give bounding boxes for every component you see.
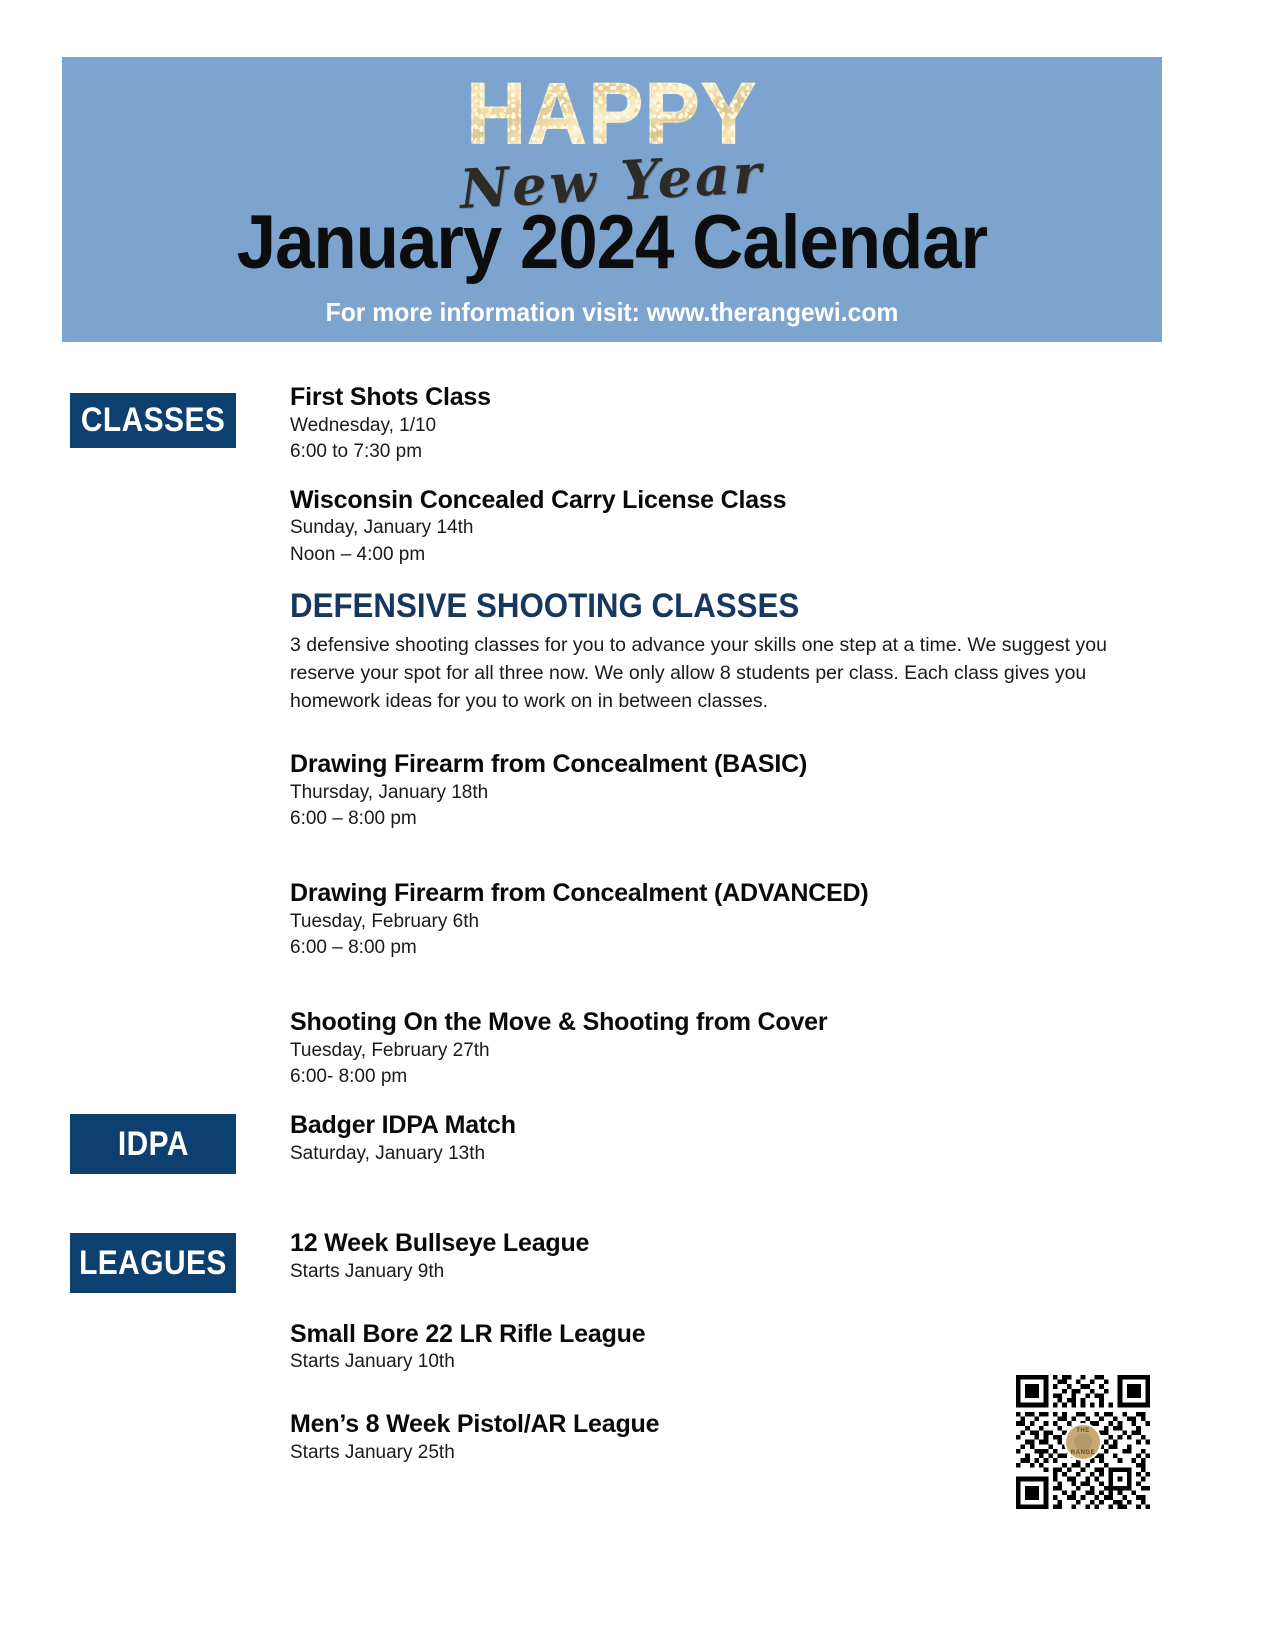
- entry-time: Noon – 4:00 pm: [290, 542, 1140, 568]
- entry-time: 6:00 – 8:00 pm: [290, 935, 1140, 961]
- entry-title: Badger IDPA Match: [290, 1110, 1090, 1141]
- entry-time: 6:00 to 7:30 pm: [290, 439, 1140, 465]
- class-entry: Drawing Firearm from Concealment (ADVANC…: [290, 878, 1140, 961]
- logo-bottom-label: RANGE: [1066, 1450, 1100, 1456]
- header-banner: HAPPY New Year January 2024 Calendar For…: [62, 57, 1162, 342]
- entry-date: Tuesday, February 6th: [290, 909, 1140, 935]
- defensive-shooting-subsection: DEFENSIVE SHOOTING CLASSES 3 defensive s…: [290, 588, 1140, 715]
- entry-time: 6:00- 8:00 pm: [290, 1064, 1140, 1090]
- qr-code[interactable]: THE RANGE: [1016, 1375, 1150, 1509]
- spacer: [290, 832, 1140, 878]
- entry-title: 12 Week Bullseye League: [290, 1228, 1090, 1259]
- calendar-flyer-page: HAPPY New Year January 2024 Calendar For…: [0, 0, 1275, 1650]
- entry-title: Drawing Firearm from Concealment (BASIC): [290, 749, 1140, 780]
- entry-title: Shooting On the Move & Shooting from Cov…: [290, 1007, 1140, 1038]
- section-badge-idpa: IDPA: [70, 1114, 236, 1174]
- section-badge-classes: CLASSES: [70, 393, 236, 448]
- entry-date: Sunday, January 14th: [290, 515, 1140, 541]
- entry-date: Tuesday, February 27th: [290, 1038, 1140, 1064]
- entry-title: Wisconsin Concealed Carry License Class: [290, 485, 1140, 516]
- league-entry: Men’s 8 Week Pistol/AR League Starts Jan…: [290, 1409, 1090, 1466]
- subsection-paragraph: 3 defensive shooting classes for you to …: [290, 632, 1138, 715]
- leagues-content-column: 12 Week Bullseye League Starts January 9…: [290, 1228, 1090, 1466]
- banner-website-line: For more information visit: www.therange…: [90, 297, 1135, 328]
- classes-content-column: First Shots Class Wednesday, 1/10 6:00 t…: [290, 382, 1140, 1090]
- section-badge-leagues-label: LEAGUES: [79, 1244, 227, 1283]
- section-badge-classes-label: CLASSES: [81, 401, 225, 440]
- spacer: [290, 961, 1140, 1007]
- page-title: January 2024 Calendar: [101, 205, 1124, 281]
- class-entry: Drawing Firearm from Concealment (BASIC)…: [290, 749, 1140, 832]
- class-entry: First Shots Class Wednesday, 1/10 6:00 t…: [290, 382, 1140, 465]
- entry-date: Saturday, January 13th: [290, 1141, 1090, 1167]
- class-entry: Wisconsin Concealed Carry License Class …: [290, 485, 1140, 568]
- logo-inner-circle: [1074, 1433, 1092, 1451]
- section-badge-idpa-label: IDPA: [117, 1125, 188, 1164]
- entry-title: Small Bore 22 LR Rifle League: [290, 1319, 1090, 1350]
- entry-time: 6:00 – 8:00 pm: [290, 806, 1140, 832]
- section-badge-leagues: LEAGUES: [70, 1233, 236, 1293]
- entry-title: Men’s 8 Week Pistol/AR League: [290, 1409, 1090, 1440]
- entry-date: Starts January 10th: [290, 1349, 1090, 1375]
- idpa-content-column: Badger IDPA Match Saturday, January 13th: [290, 1110, 1090, 1167]
- spacer: [290, 568, 1140, 588]
- spacer: [290, 465, 1140, 485]
- subsection-heading: DEFENSIVE SHOOTING CLASSES: [290, 588, 1072, 625]
- spacer: [290, 715, 1140, 749]
- entry-title: Drawing Firearm from Concealment (ADVANC…: [290, 878, 1140, 909]
- spacer: [290, 1375, 1090, 1409]
- spacer: [290, 1285, 1090, 1319]
- logo-top-label: THE: [1066, 1428, 1100, 1434]
- idpa-entry: Badger IDPA Match Saturday, January 13th: [290, 1110, 1090, 1167]
- entry-date: Starts January 25th: [290, 1440, 1090, 1466]
- happy-new-year-graphic: HAPPY New Year: [62, 71, 1162, 206]
- class-entry: Shooting On the Move & Shooting from Cov…: [290, 1007, 1140, 1090]
- entry-date: Thursday, January 18th: [290, 780, 1140, 806]
- league-entry: Small Bore 22 LR Rifle League Starts Jan…: [290, 1319, 1090, 1376]
- league-entry: 12 Week Bullseye League Starts January 9…: [290, 1228, 1090, 1285]
- entry-date: Wednesday, 1/10: [290, 413, 1140, 439]
- entry-date: Starts January 9th: [290, 1259, 1090, 1285]
- entry-title: First Shots Class: [290, 382, 1140, 413]
- the-range-logo-icon: THE RANGE: [1064, 1423, 1102, 1461]
